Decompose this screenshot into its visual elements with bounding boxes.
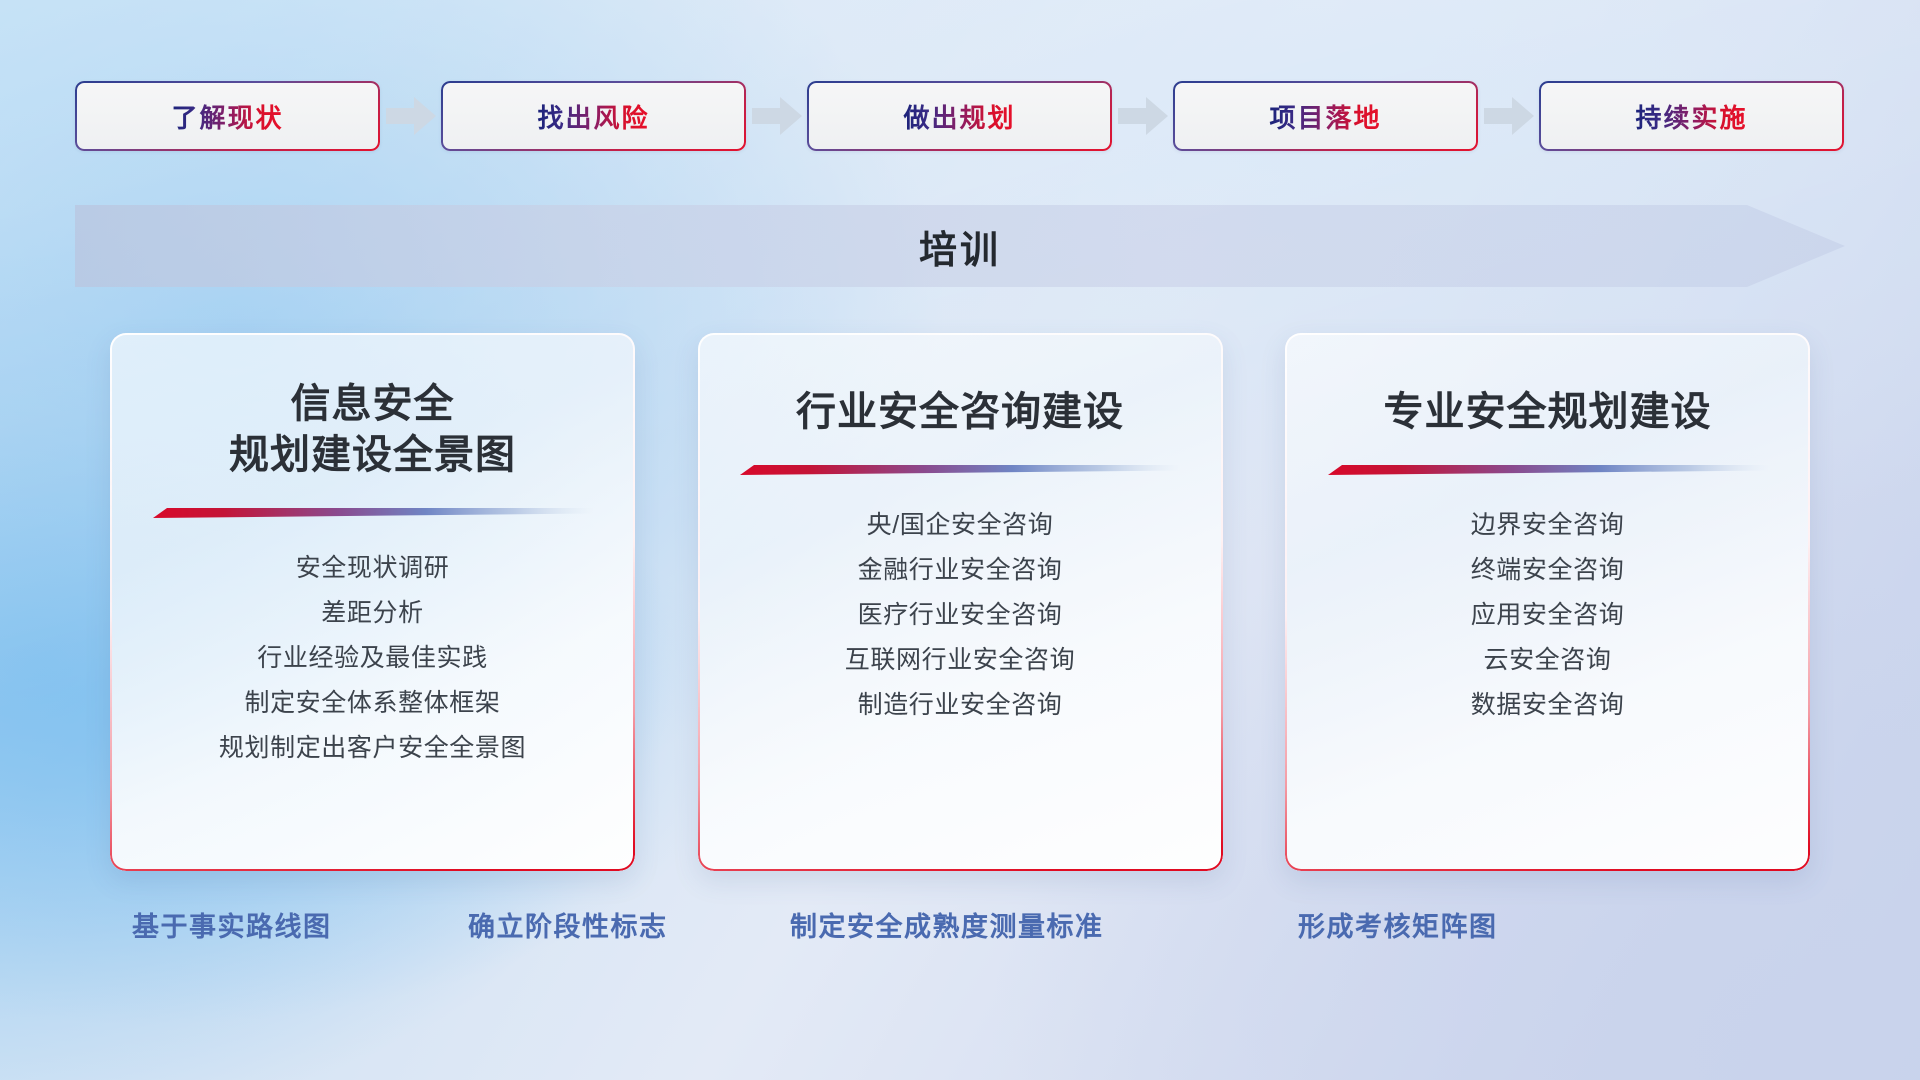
list-item[interactable]: 制定安全体系整体框架: [244, 681, 500, 726]
list-item[interactable]: 差距分析: [321, 591, 423, 636]
arrow-right-icon: [746, 80, 807, 152]
caption-roadmap: 基于事实路线图: [132, 905, 332, 944]
card-divider: [153, 507, 593, 520]
card-title: 信息安全 规划建设全景图: [229, 379, 516, 481]
list-item[interactable]: 应用安全咨询: [1471, 593, 1625, 638]
list-item[interactable]: 安全现状调研: [296, 546, 450, 591]
list-item[interactable]: 互联网行业安全咨询: [845, 638, 1075, 683]
card-information-security[interactable]: 信息安全 规划建设全景图: [110, 333, 635, 871]
list-item[interactable]: 终端安全咨询: [1471, 548, 1625, 593]
list-item[interactable]: 金融行业安全咨询: [858, 548, 1063, 593]
banner-title: 培训: [75, 205, 1845, 287]
list-item[interactable]: 边界安全咨询: [1471, 503, 1625, 548]
step-item-3[interactable]: 项目落地: [1173, 81, 1478, 151]
card-professional-security-planning[interactable]: 专业安全规划建设: [1285, 333, 1810, 871]
gradient-rule-icon: [740, 464, 1180, 477]
caption-milestones: 确立阶段性标志: [468, 905, 668, 944]
caption-maturity-standard: 制定安全成熟度测量标准: [790, 905, 1104, 944]
training-banner: 培训: [75, 205, 1845, 287]
card-divider: [740, 464, 1180, 477]
list-item[interactable]: 云安全咨询: [1483, 638, 1611, 683]
step-item-1[interactable]: 找出风险: [441, 81, 746, 151]
card-title: 专业安全规划建设: [1384, 387, 1712, 438]
step-item-4[interactable]: 持续实施: [1539, 81, 1844, 151]
card-list: 央/国企安全咨询 金融行业安全咨询 医疗行业安全咨询 互联网行业安全咨询 制造行…: [698, 503, 1223, 728]
gradient-rule-icon: [153, 507, 593, 520]
list-item[interactable]: 行业经验及最佳实践: [257, 636, 487, 681]
card-divider: [1328, 464, 1768, 477]
list-item[interactable]: 医疗行业安全咨询: [858, 593, 1063, 638]
slide-stage: 了解现状 找出风险 做出规划 项目落地 持续实施: [0, 0, 1920, 1080]
list-item[interactable]: 规划制定出客户安全全景图: [219, 726, 526, 771]
step-label: 找出风险: [537, 98, 649, 135]
card-list: 边界安全咨询 终端安全咨询 应用安全咨询 云安全咨询 数据安全咨询: [1285, 503, 1810, 728]
list-item[interactable]: 央/国企安全咨询: [867, 503, 1054, 548]
arrow-right-icon: [1478, 80, 1539, 152]
step-label: 项目落地: [1269, 98, 1381, 135]
card-list: 安全现状调研 差距分析 行业经验及最佳实践 制定安全体系整体框架 规划制定出客户…: [110, 546, 635, 771]
list-item[interactable]: 数据安全咨询: [1471, 683, 1625, 728]
step-label: 做出规划: [903, 98, 1015, 135]
step-label: 了解现状: [171, 98, 283, 135]
gradient-rule-icon: [1328, 464, 1768, 477]
card-title: 行业安全咨询建设: [796, 387, 1124, 438]
step-item-2[interactable]: 做出规划: [807, 81, 1112, 151]
step-item-0[interactable]: 了解现状: [75, 81, 380, 151]
step-label: 持续实施: [1635, 98, 1747, 135]
arrow-right-icon: [1112, 80, 1173, 152]
arrow-right-icon: [380, 80, 441, 152]
list-item[interactable]: 制造行业安全咨询: [858, 683, 1063, 728]
caption-row: 基于事实路线图 确立阶段性标志 制定安全成熟度测量标准 形成考核矩阵图: [0, 905, 1920, 961]
card-row: 信息安全 规划建设全景图: [110, 333, 1810, 871]
caption-assessment-matrix: 形成考核矩阵图: [1298, 905, 1498, 944]
process-steps: 了解现状 找出风险 做出规划 项目落地 持续实施: [75, 80, 1845, 152]
card-industry-security-consulting[interactable]: 行业安全咨询建设: [698, 333, 1223, 871]
